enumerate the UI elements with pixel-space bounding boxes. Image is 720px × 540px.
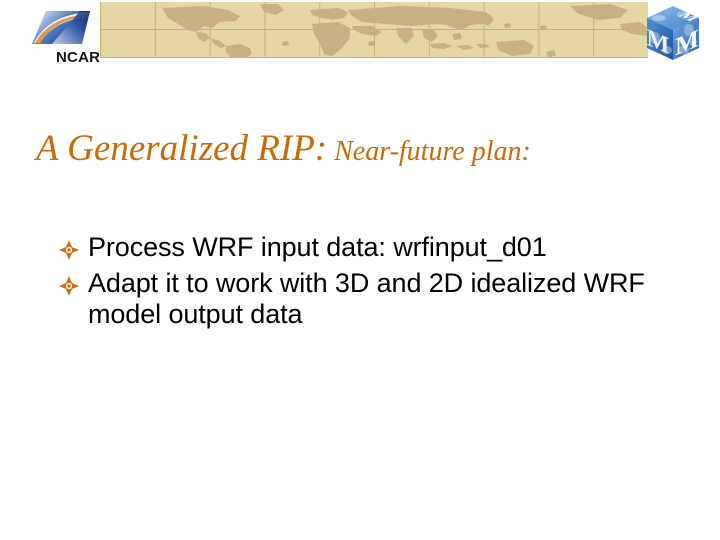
title-main: A Generalized RIP: (36, 128, 327, 169)
ncar-logo: NCAR (24, 6, 96, 70)
page-title: A Generalized RIP:Near-future plan: (36, 126, 696, 172)
ncar-swoosh-mark (30, 8, 92, 48)
list-item-label: Adapt it to work with 3D and 2D idealize… (88, 268, 678, 330)
title-sub: Near-future plan: (334, 136, 531, 167)
mmm-cube-logo: M M M (643, 4, 703, 66)
compass-rose-bullet-icon (58, 275, 80, 297)
slide-header: NCAR (0, 0, 720, 75)
world-map-graphic (100, 2, 648, 58)
world-map-banner (100, 2, 648, 58)
compass-rose-bullet-icon (58, 239, 80, 261)
list-item: Adapt it to work with 3D and 2D idealize… (58, 268, 678, 330)
list-item-label: Process WRF input data: wrfinput_d01 (88, 232, 678, 263)
ncar-wordmark: NCAR (56, 50, 100, 66)
bullet-list: Process WRF input data: wrfinput_d01 Ada… (58, 232, 678, 335)
slide-canvas: NCAR (0, 0, 720, 540)
list-item: Process WRF input data: wrfinput_d01 (58, 232, 678, 263)
